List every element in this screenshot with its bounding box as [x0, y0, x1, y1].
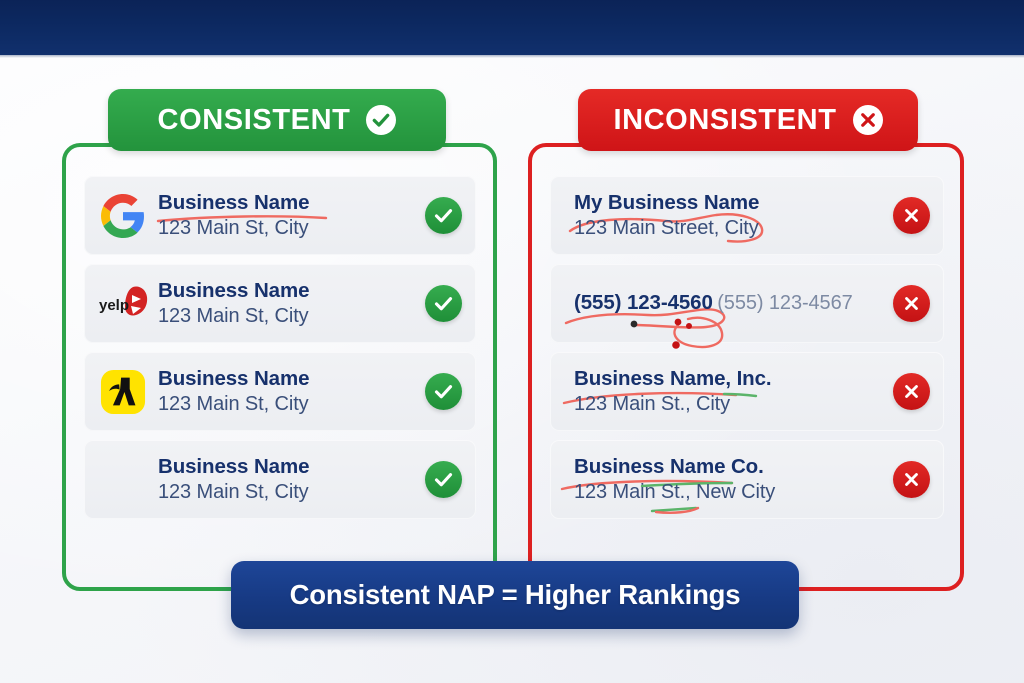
- list-item-subtitle: 123 Main St., New City: [574, 481, 775, 503]
- summary-banner-text: Consistent NAP = Higher Rankings: [290, 579, 741, 611]
- inconsistent-badge: INCONSISTENT: [578, 89, 918, 151]
- x-circle-icon: [893, 461, 930, 498]
- list-item-text: Business Name, Inc. 123 Main St., City: [562, 367, 885, 415]
- list-item[interactable]: Business Name 123 Main St, City: [84, 352, 476, 431]
- list-item-title: Business Name Co.: [574, 455, 764, 478]
- list-item[interactable]: (555) 123-4560 (555) 123-4567: [550, 264, 944, 343]
- yellowpages-logo-icon: [96, 367, 150, 417]
- consistent-rows: Business Name 123 Main St, City yelp: [84, 176, 476, 519]
- list-item[interactable]: Business Name 123 Main St, City: [84, 440, 476, 519]
- svg-text:yelp: yelp: [99, 297, 129, 314]
- google-logo-icon: [96, 191, 150, 241]
- x-circle-icon: [893, 373, 930, 410]
- list-item-title: Business Name: [158, 279, 309, 302]
- list-item-subtitle: 123 Main St, City: [158, 393, 309, 415]
- top-navy-band: [0, 0, 1024, 55]
- x-circle-icon: [893, 285, 930, 322]
- consistent-badge-label: CONSISTENT: [158, 106, 351, 135]
- summary-banner: Consistent NAP = Higher Rankings: [231, 561, 799, 629]
- list-item-title: (555) 123-4560: [574, 291, 713, 314]
- list-item-subtitle: (555) 123-4567: [717, 292, 852, 314]
- list-item-text: Business Name 123 Main St, City: [156, 279, 417, 327]
- consistent-badge: CONSISTENT: [108, 89, 446, 151]
- list-item-subtitle: 123 Main Street, City: [574, 217, 759, 239]
- list-item-subtitle: 123 Main St, City: [158, 481, 309, 503]
- list-item[interactable]: My Business Name 123 Main Street, City: [550, 176, 944, 255]
- list-item-text: Business Name Co. 123 Main St., New City: [562, 455, 885, 503]
- list-item-text: Business Name 123 Main St, City: [156, 191, 417, 239]
- x-circle-icon: [853, 105, 883, 135]
- list-item[interactable]: yelp Business Name 123 Main St, City: [84, 264, 476, 343]
- x-circle-icon: [893, 197, 930, 234]
- list-item-text: (555) 123-4560 (555) 123-4567: [562, 291, 885, 315]
- list-item-title: My Business Name: [574, 191, 759, 214]
- list-item[interactable]: Business Name, Inc. 123 Main St., City: [550, 352, 944, 431]
- inconsistent-badge-label: INCONSISTENT: [613, 106, 836, 135]
- list-item[interactable]: Business Name 123 Main St, City: [84, 176, 476, 255]
- list-item-subtitle: 123 Main St, City: [158, 305, 309, 327]
- infographic-canvas: CONSISTENT Business Name: [0, 0, 1024, 683]
- check-circle-icon: [366, 105, 396, 135]
- list-item-title: Business Name: [158, 367, 309, 390]
- list-item-text: Business Name 123 Main St, City: [156, 367, 417, 415]
- blank-logo-icon: [96, 455, 150, 505]
- list-item-text: Business Name 123 Main St, City: [156, 455, 417, 503]
- list-item-text: My Business Name 123 Main Street, City: [562, 191, 885, 239]
- yelp-logo-icon: yelp: [96, 279, 150, 329]
- list-item-title: Business Name: [158, 191, 309, 214]
- list-item-title: Business Name, Inc.: [574, 367, 772, 390]
- list-item[interactable]: Business Name Co. 123 Main St., New City: [550, 440, 944, 519]
- check-circle-icon: [425, 461, 462, 498]
- check-circle-icon: [425, 197, 462, 234]
- check-circle-icon: [425, 373, 462, 410]
- list-item-subtitle: 123 Main St, City: [158, 217, 309, 239]
- list-item-subtitle: 123 Main St., City: [574, 393, 730, 415]
- check-circle-icon: [425, 285, 462, 322]
- inconsistent-rows: My Business Name 123 Main Street, City: [550, 176, 944, 519]
- list-item-title: Business Name: [158, 455, 309, 478]
